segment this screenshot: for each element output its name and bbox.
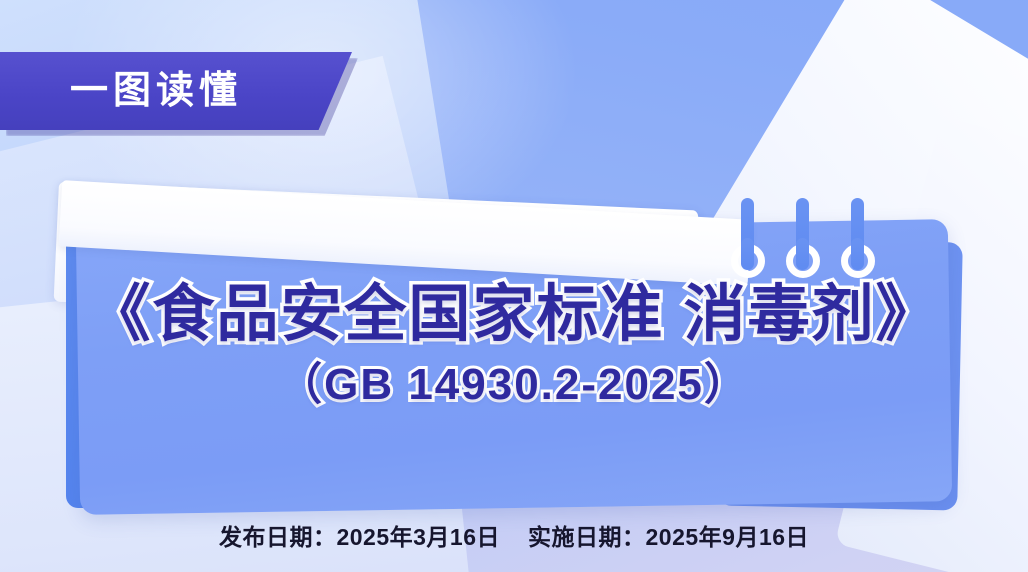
effective-date-value: 2025年9月16日 — [646, 524, 810, 550]
ring-bar-front — [796, 238, 809, 270]
ring-bar-front — [741, 238, 754, 270]
ring-bar-front — [851, 238, 864, 270]
publish-date-value: 2025年3月16日 — [336, 524, 500, 550]
ribbon-banner: 一图读懂 — [0, 52, 352, 130]
binder-ring-icon-1 — [728, 198, 768, 282]
date-row: 发布日期：2025年3月16日实施日期：2025年9月16日 — [0, 518, 1028, 552]
ribbon-label: 一图读懂 — [70, 72, 242, 110]
binder-rings-group — [728, 198, 878, 282]
ribbon-shape: 一图读懂 — [0, 52, 352, 130]
binder-ring-icon-3 — [838, 198, 878, 282]
publish-date-label: 发布日期： — [219, 524, 337, 550]
infographic-poster: 一图读懂 《食品安全国家标准 消毒剂》 （GB 14930.2-2025） 发布… — [0, 0, 1028, 572]
effective-date-label: 实施日期： — [528, 524, 646, 550]
binder-ring-icon-2 — [783, 198, 823, 282]
